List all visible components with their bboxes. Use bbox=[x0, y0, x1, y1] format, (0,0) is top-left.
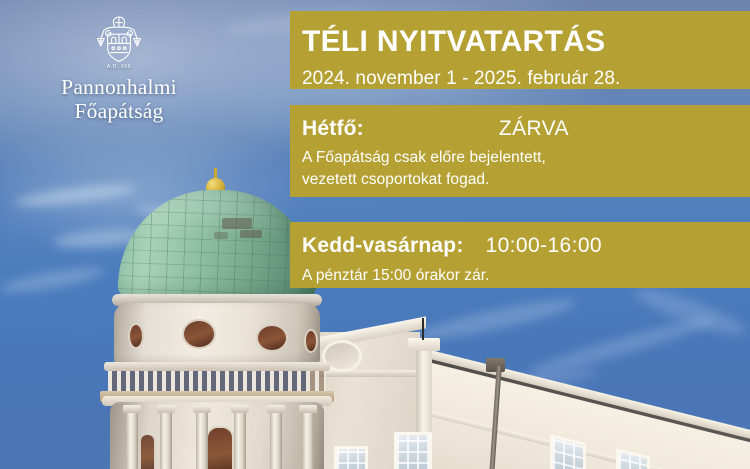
page-title: TÉLI NYITVATARTÁS bbox=[302, 11, 750, 57]
monday-note: A Főapátság csak előre bejelentett, veze… bbox=[302, 141, 750, 191]
abbey-crest-icon bbox=[91, 14, 147, 66]
poster-root: A.D. 996 Pannonhalmi Főapátság TÉLI NYIT… bbox=[0, 0, 750, 469]
copper-dome bbox=[118, 190, 316, 302]
title-panel: TÉLI NYITVATARTÁS 2024. november 1 - 202… bbox=[290, 11, 750, 89]
tuesday-sunday-note-line-1: A pénztár 15:00 órakor zár. bbox=[302, 265, 750, 287]
tuesday-sunday-note: A pénztár 15:00 órakor zár. bbox=[302, 258, 750, 287]
column bbox=[234, 412, 246, 469]
dome-patina-patch bbox=[240, 230, 262, 238]
abbey-wing-building bbox=[316, 314, 750, 469]
corner-capital bbox=[408, 338, 440, 351]
tower-colonnade bbox=[110, 402, 324, 469]
column bbox=[302, 412, 314, 469]
column bbox=[270, 412, 282, 469]
column bbox=[126, 412, 138, 469]
monday-note-line-2: vezetett csoportokat fogad. bbox=[302, 169, 750, 191]
dome-patina-patch bbox=[222, 218, 252, 229]
dome-patina-patch bbox=[214, 232, 228, 239]
column bbox=[196, 412, 208, 469]
oval-window bbox=[182, 319, 216, 349]
tuesday-sunday-hours-row: Kedd-vasárnap: 10:00-16:00 bbox=[302, 222, 750, 258]
monday-note-line-1: A Főapátság csak előre bejelentett, bbox=[302, 147, 750, 169]
wordmark-line-1: Pannonhalmi bbox=[14, 75, 224, 99]
dome-ribs bbox=[118, 190, 316, 302]
abbey-logo[interactable]: A.D. 996 Pannonhalmi Főapátság bbox=[14, 14, 224, 123]
wordmark-line-2: Főapátság bbox=[14, 99, 224, 123]
arched-window bbox=[140, 434, 155, 469]
monday-hours-panel: Hétfő: ZÁRVA A Főapátság csak előre beje… bbox=[290, 105, 750, 197]
roof-spike bbox=[422, 318, 424, 340]
dome-drum bbox=[114, 303, 320, 365]
abbey-wordmark: Pannonhalmi Főapátság bbox=[14, 75, 224, 123]
arched-window bbox=[206, 426, 234, 469]
wing-window bbox=[394, 432, 432, 469]
wing-window bbox=[334, 446, 368, 469]
tuesday-sunday-hours-panel: Kedd-vasárnap: 10:00-16:00 A pénztár 15:… bbox=[290, 222, 750, 288]
balcony-slab bbox=[104, 362, 330, 371]
oval-window bbox=[304, 329, 318, 353]
oval-window bbox=[128, 323, 144, 349]
monday-hours-row: Hétfő: ZÁRVA bbox=[302, 105, 750, 141]
tuesday-sunday-hours-value: 10:00-16:00 bbox=[486, 234, 603, 258]
cloud-wisp bbox=[0, 263, 106, 297]
monday-day-label: Hétfő: bbox=[302, 117, 364, 141]
monday-status-value: ZÁRVA bbox=[499, 117, 569, 141]
tuesday-sunday-day-label: Kedd-vasárnap: bbox=[302, 234, 464, 258]
date-range-label: 2024. november 1 - 2025. február 28. bbox=[302, 57, 750, 88]
column bbox=[160, 412, 172, 469]
oval-window bbox=[256, 324, 288, 352]
crest-year-label: A.D. 996 bbox=[14, 64, 224, 70]
